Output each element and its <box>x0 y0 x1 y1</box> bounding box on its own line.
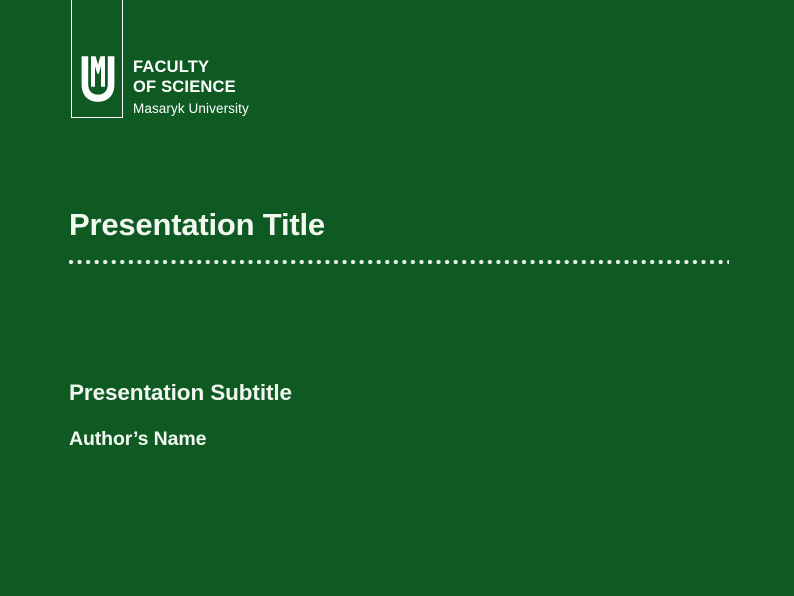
presentation-subtitle: Presentation Subtitle <box>69 378 292 408</box>
logo-wordmark: FACULTY OF SCIENCE Masaryk University <box>133 58 473 117</box>
author-name: Author’s Name <box>69 426 206 452</box>
dotted-divider <box>69 260 729 266</box>
logo-line-faculty: FACULTY <box>133 58 473 78</box>
logo-line-masaryk-university: Masaryk University <box>133 100 473 117</box>
title-slide: FACULTY OF SCIENCE Masaryk University Pr… <box>0 0 794 596</box>
logo-line-of-science: OF SCIENCE <box>133 78 473 98</box>
university-logo: FACULTY OF SCIENCE Masaryk University <box>71 0 491 125</box>
mu-monogram-icon <box>80 55 116 107</box>
presentation-title: Presentation Title <box>69 205 325 245</box>
